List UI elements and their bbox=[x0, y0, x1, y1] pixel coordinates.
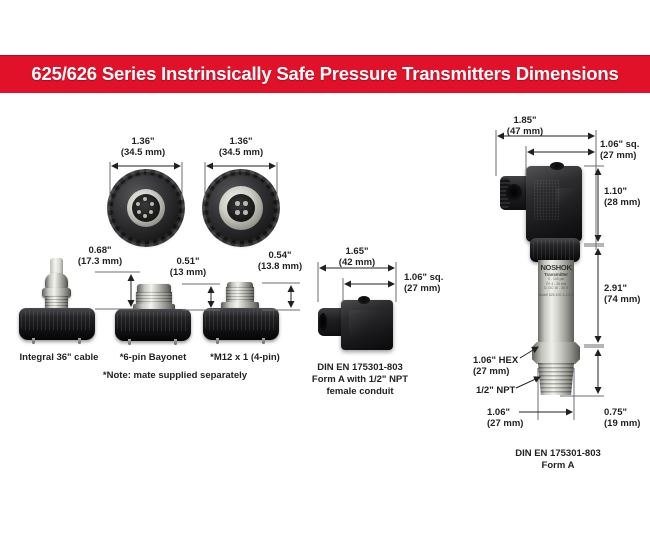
pin-icon bbox=[150, 202, 154, 206]
banner-title: 625/626 Series Instrinsically Safe Press… bbox=[31, 63, 618, 85]
black-cap-nut bbox=[115, 309, 191, 341]
tx-conduit-hole bbox=[506, 184, 522, 202]
din-square-mm: (27 mm) bbox=[404, 283, 440, 295]
bayonet-topview-dim-in: 1.36" bbox=[98, 136, 188, 148]
bayonet-topview-dim-mm: (34.5 mm) bbox=[98, 147, 188, 159]
bayonet-top-view bbox=[110, 172, 182, 244]
tx-base-width-mm: (27 mm) bbox=[487, 418, 523, 430]
pin-icon bbox=[137, 210, 141, 214]
mounting-foot bbox=[32, 338, 35, 344]
integral-cable-caption: Integral 36" cable bbox=[4, 352, 114, 364]
m12-caption: *M12 x 1 (4-pin) bbox=[193, 352, 297, 364]
transmitter-image: NOSHOK Transmitter 0 - 100 psi O+ 4 - 20… bbox=[500, 162, 610, 412]
tx-hex-nut bbox=[532, 342, 580, 364]
din-caption-line3: female conduit bbox=[300, 386, 420, 398]
m12-topview-core bbox=[227, 194, 255, 222]
pin-icon bbox=[235, 210, 240, 215]
tx-width-mm: (47 mm) bbox=[470, 126, 580, 138]
bayonet-topview-core bbox=[132, 194, 160, 222]
tx-npt-thread bbox=[538, 363, 574, 395]
tx-brand-text: NOSHOK bbox=[540, 264, 571, 272]
pin-icon bbox=[243, 201, 248, 206]
pin-icon bbox=[243, 210, 248, 215]
tx-thread-len-mm: (19 mm) bbox=[604, 418, 640, 430]
tx-caption-line1: DIN EN 175301-803 bbox=[498, 448, 618, 460]
bayonet-dim-in: 0.51" bbox=[150, 256, 226, 268]
m12-dim-in: 0.54" bbox=[240, 250, 320, 262]
tx-caption-line2: Form A bbox=[498, 460, 618, 472]
m12-top-view bbox=[205, 172, 277, 244]
din-square-in: 1.06" sq. bbox=[404, 272, 443, 284]
integral-cable-connector bbox=[14, 258, 110, 350]
pin-icon bbox=[136, 202, 140, 206]
m12-connector bbox=[200, 282, 290, 350]
tx-collar bbox=[530, 238, 580, 262]
m12-topview-dim-in: 1.36" bbox=[196, 136, 286, 148]
bayonet-dim-mm: (13 mm) bbox=[150, 267, 226, 279]
mounting-foot bbox=[216, 338, 219, 344]
tx-spec3: O- DC 10 - 30 V bbox=[544, 286, 568, 290]
tx-square-in: 1.06" sq. bbox=[600, 139, 639, 151]
mounting-foot bbox=[174, 339, 177, 345]
din-emboss bbox=[349, 310, 383, 336]
din-width-in: 1.65" bbox=[320, 246, 394, 258]
m12-topview-dim-mm: (34.5 mm) bbox=[196, 147, 286, 159]
integral-cable-dim-in: 0.68" bbox=[60, 245, 140, 257]
pin-icon bbox=[143, 214, 147, 218]
tx-din-emboss bbox=[556, 188, 574, 210]
bayonet-connector bbox=[113, 284, 203, 350]
mate-footnote: *Note: mate supplied separately bbox=[75, 370, 275, 382]
tx-din-top-hole bbox=[550, 162, 564, 170]
din-caption-line2: Form A with 1/2" NPT bbox=[294, 374, 426, 386]
title-banner: 625/626 Series Instrinsically Safe Press… bbox=[0, 55, 650, 93]
tx-din-housing bbox=[526, 166, 582, 242]
din-body bbox=[341, 300, 393, 350]
pin-icon bbox=[143, 197, 147, 201]
din-connector-image bbox=[318, 296, 400, 354]
mounting-foot bbox=[128, 339, 131, 345]
din-top-hole bbox=[358, 296, 370, 304]
pin-icon bbox=[235, 201, 240, 206]
bayonet-caption: *6-pin Bayonet bbox=[103, 352, 203, 364]
tx-square-mm: (27 mm) bbox=[600, 150, 636, 162]
tx-barrel: NOSHOK Transmitter 0 - 100 psi O+ 4 - 20… bbox=[538, 260, 574, 344]
tx-width-in: 1.85" bbox=[470, 115, 580, 127]
din-width-mm: (42 mm) bbox=[320, 257, 394, 269]
pin-icon bbox=[149, 210, 153, 214]
tx-product-label: NOSHOK Transmitter 0 - 100 psi O+ 4 - 20… bbox=[539, 264, 573, 338]
m12-dim-mm: (13.8 mm) bbox=[240, 261, 320, 273]
diagram-canvas: 625/626 Series Instrinsically Safe Press… bbox=[0, 0, 650, 536]
black-cap-nut bbox=[203, 308, 279, 340]
mounting-foot bbox=[262, 338, 265, 344]
din-caption-line1: DIN EN 175301-803 bbox=[300, 362, 420, 374]
black-cap-nut bbox=[19, 308, 95, 340]
mounting-foot bbox=[78, 338, 81, 344]
tx-model: Model 625-100-1-1-2-7 bbox=[539, 293, 573, 297]
